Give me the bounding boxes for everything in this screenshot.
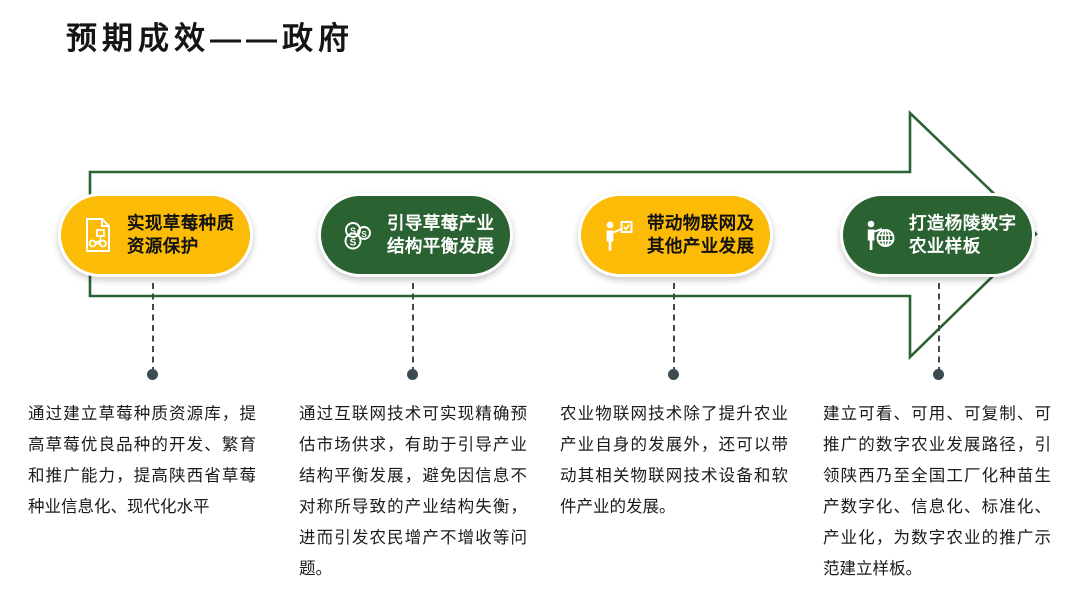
connector-line-1 [152, 283, 154, 373]
step-description-2: 通过互联网技术可实现精确预估市场供求，有助于引导产业结构平衡发展，避免因信息不对… [299, 399, 527, 585]
step-pill-1[interactable]: 实现草莓种质 资源保护 [58, 193, 253, 277]
page-title: 预期成效——政府 [66, 20, 354, 57]
svg-text:S: S [361, 230, 367, 239]
document-network-icon [79, 214, 117, 256]
step-pill-4-label: 打造杨陵数字 农业样板 [909, 212, 1016, 258]
person-globe-icon [861, 214, 899, 256]
connector-dot-2 [407, 369, 418, 380]
connector-line-4 [938, 283, 940, 373]
step-pill-3[interactable]: 带动物联网及 其他产业发展 [578, 193, 773, 277]
step-pill-2-label: 引导草莓产业 结构平衡发展 [387, 212, 494, 258]
step-pill-1-label: 实现草莓种质 资源保护 [127, 212, 234, 258]
connector-dot-4 [933, 369, 944, 380]
connector-line-3 [673, 283, 675, 373]
svg-text:S: S [350, 238, 357, 249]
connector-dot-1 [147, 369, 158, 380]
step-pill-3-label: 带动物联网及 其他产业发展 [647, 212, 754, 258]
step-pill-2[interactable]: S S S 引导草莓产业 结构平衡发展 [318, 193, 513, 277]
step-description-3: 农业物联网技术除了提升农业产业自身的发展外，还可以带动其相关物联网技术设备和软件… [560, 399, 788, 523]
step-description-1: 通过建立草莓种质资源库，提高草莓优良品种的开发、繁育和推广能力，提高陕西省草莓种… [28, 399, 256, 523]
slide-canvas: 预期成效——政府 实现草莓种质 资源保护 [0, 0, 1080, 609]
person-checklist-icon [599, 214, 637, 256]
step-description-4: 建立可看、可用、可复制、可推广的数字农业发展路径，引领陕西乃至全国工厂化种苗生产… [823, 399, 1051, 585]
coins-money-icon: S S S [339, 214, 377, 256]
connector-line-2 [412, 283, 414, 373]
connector-dot-3 [668, 369, 679, 380]
step-pill-4[interactable]: 打造杨陵数字 农业样板 [840, 193, 1035, 277]
